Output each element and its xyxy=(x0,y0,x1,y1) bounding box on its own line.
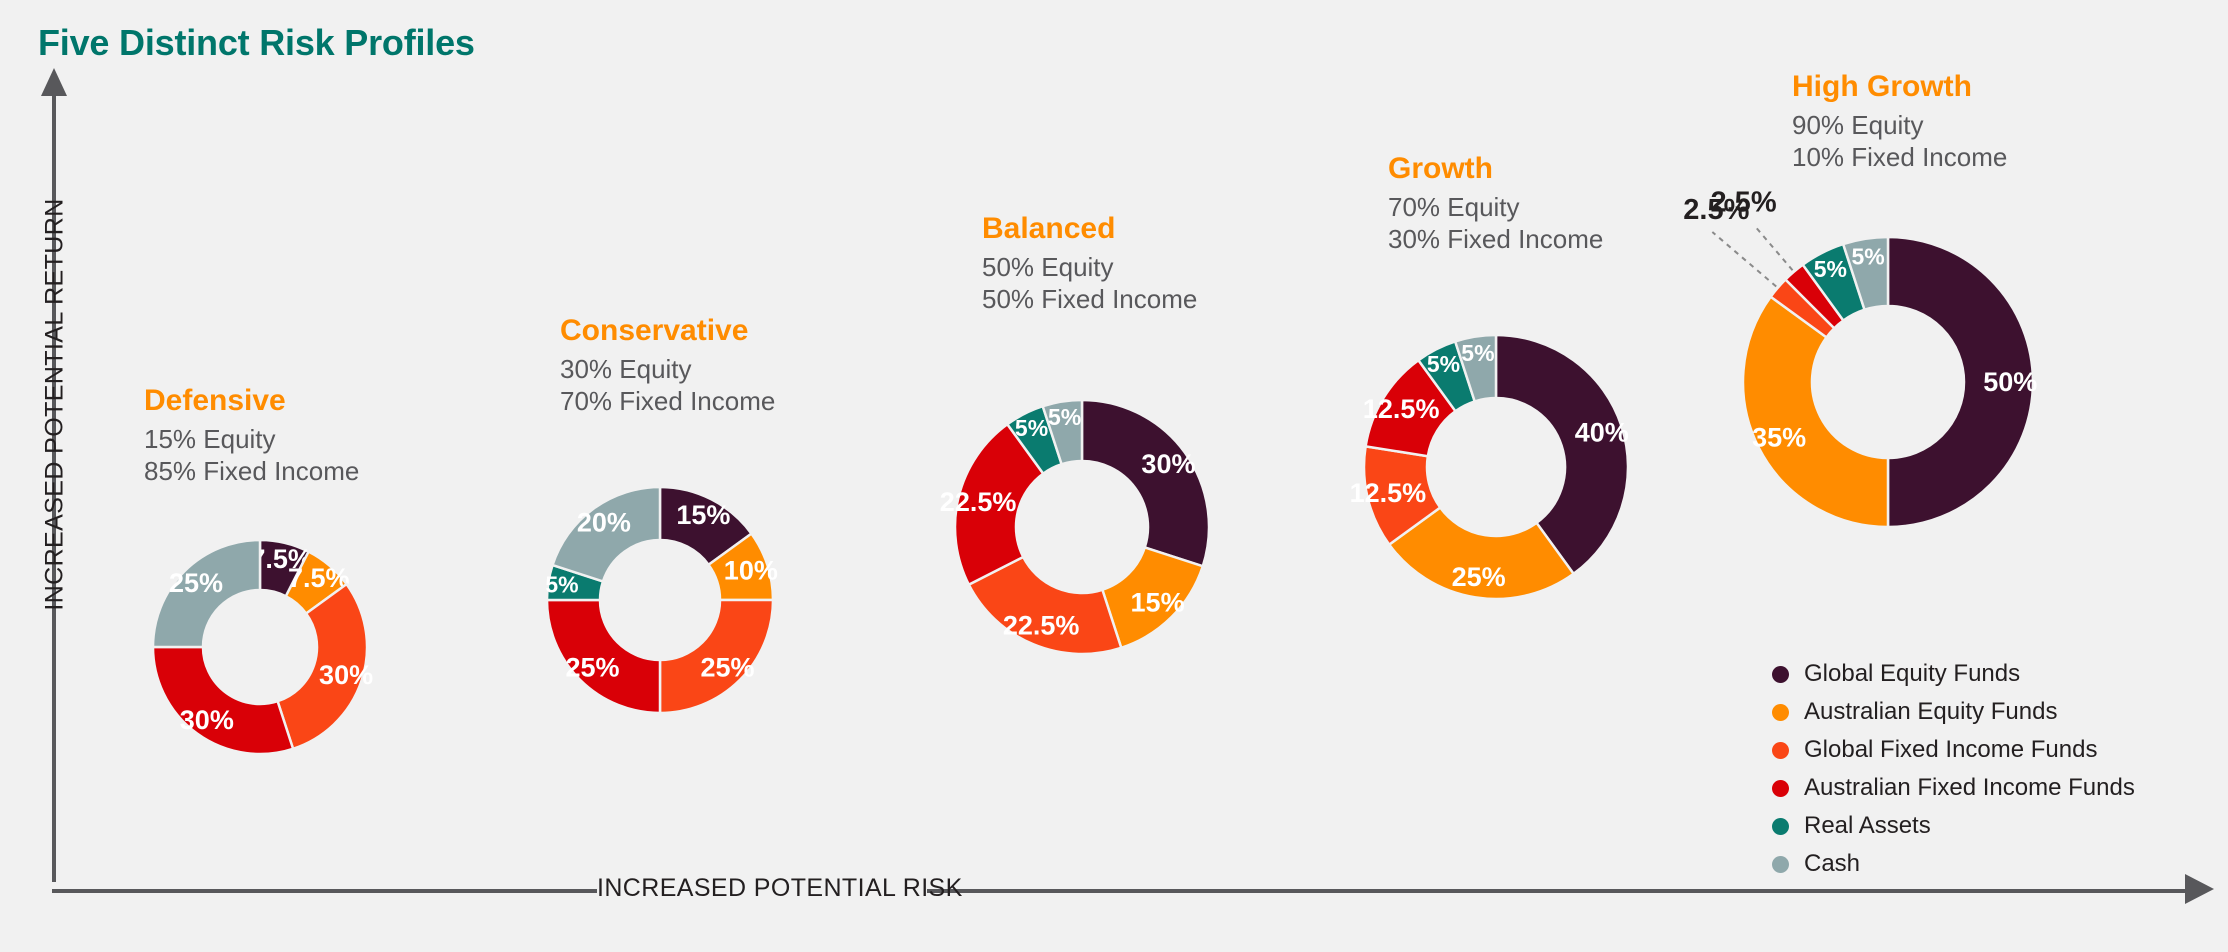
donut-chart-high-growth[interactable]: 50%35%2.5%2.5%5%5% xyxy=(1613,107,2163,657)
donut-slice[interactable] xyxy=(1082,400,1209,566)
slice-value-label: 20% xyxy=(577,508,631,538)
legend-item[interactable]: Australian Fixed Income Funds xyxy=(1772,769,2135,807)
profile-name: High Growth xyxy=(1792,70,2007,104)
page-title: Five Distinct Risk Profiles xyxy=(38,22,475,64)
legend: Global Equity FundsAustralian Equity Fun… xyxy=(1772,655,2135,883)
slice-value-label: 35% xyxy=(1752,422,1806,452)
slice-value-label: 5% xyxy=(1851,244,1884,270)
slice-value-label: 15% xyxy=(1131,588,1185,618)
slice-value-label: 50% xyxy=(1983,367,2037,397)
slice-value-label: 15% xyxy=(676,500,730,530)
slice-value-label: 12.5% xyxy=(1350,478,1427,508)
legend-swatch-icon xyxy=(1772,856,1789,873)
slice-value-label: 30% xyxy=(1141,449,1195,479)
donut-slice[interactable] xyxy=(153,647,293,754)
legend-item[interactable]: Real Assets xyxy=(1772,807,2135,845)
legend-swatch-icon xyxy=(1772,742,1789,759)
slice-value-label: 22.5% xyxy=(1003,611,1080,641)
slice-value-label: 5% xyxy=(1461,340,1494,366)
slice-value-label: 5% xyxy=(1427,351,1460,377)
legend-item[interactable]: Global Equity Funds xyxy=(1772,655,2135,693)
legend-item[interactable]: Global Fixed Income Funds xyxy=(1772,731,2135,769)
slice-value-label: 5% xyxy=(1015,415,1048,441)
x-axis-line-left xyxy=(52,889,597,893)
slice-value-label: 25% xyxy=(701,653,755,683)
slice-value-label: 25% xyxy=(1452,562,1506,592)
legend-item[interactable]: Australian Equity Funds xyxy=(1772,693,2135,731)
slice-value-label: 25% xyxy=(565,653,619,683)
legend-swatch-icon xyxy=(1772,780,1789,797)
callout-leader-line xyxy=(1712,232,1776,287)
legend-item-label: Real Assets xyxy=(1804,812,1931,840)
legend-item-label: Australian Fixed Income Funds xyxy=(1804,774,2135,802)
x-axis-label: INCREASED POTENTIAL RISK xyxy=(597,874,927,903)
slice-value-label: 5% xyxy=(1048,404,1081,430)
legend-swatch-icon xyxy=(1772,704,1789,721)
legend-item-label: Australian Equity Funds xyxy=(1804,698,2057,726)
profile-name: Conservative xyxy=(560,314,775,348)
legend-item-label: Global Fixed Income Funds xyxy=(1804,736,2097,764)
legend-swatch-icon xyxy=(1772,818,1789,835)
slice-value-label: 12.5% xyxy=(1363,394,1440,424)
slice-value-label: 30% xyxy=(180,705,234,735)
profile-name: Balanced xyxy=(982,212,1197,246)
slice-value-label: 25% xyxy=(169,568,223,598)
legend-swatch-icon xyxy=(1772,666,1789,683)
slice-value-label: 30% xyxy=(319,660,373,690)
legend-item-label: Global Equity Funds xyxy=(1804,660,2020,688)
chart-canvas: Five Distinct Risk Profiles INCREASED PO… xyxy=(0,0,2228,952)
slice-value-label: 10% xyxy=(724,555,778,585)
donut-slice[interactable] xyxy=(1743,297,1888,527)
legend-item[interactable]: Cash xyxy=(1772,845,2135,883)
x-axis-arrowhead-icon xyxy=(2185,874,2214,904)
callout-leader-line xyxy=(1754,225,1793,271)
x-axis-line-right xyxy=(927,889,2185,893)
profile-name: Growth xyxy=(1388,152,1603,186)
slice-value-label: 5% xyxy=(1814,256,1847,282)
legend-item-label: Cash xyxy=(1804,850,1860,878)
slice-value-label: 5% xyxy=(545,571,578,597)
y-axis-arrowhead-icon xyxy=(41,68,67,96)
slice-value-label: 22.5% xyxy=(940,487,1017,517)
slice-callout-label: 2.5% xyxy=(1711,187,1777,219)
